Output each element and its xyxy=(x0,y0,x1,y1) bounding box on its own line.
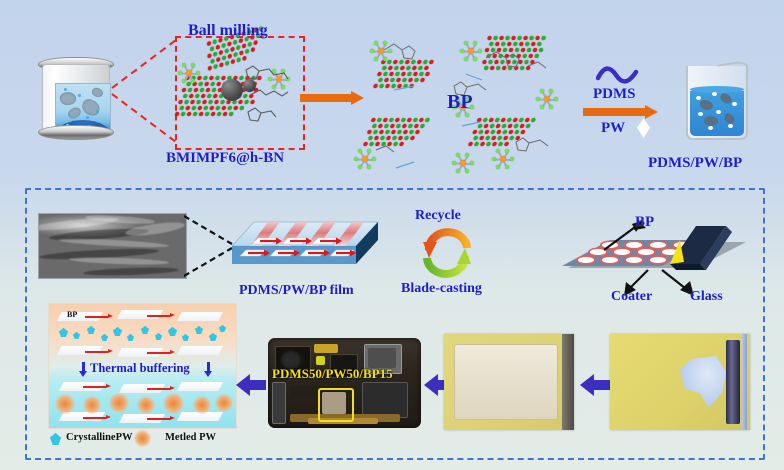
bp-inline-label: BP xyxy=(67,310,77,319)
process-arrow-2-icon xyxy=(583,105,659,119)
beaker xyxy=(686,60,748,140)
beaker-glass xyxy=(686,66,748,140)
glass-label: Glass xyxy=(690,289,723,305)
pf6-anion-icon xyxy=(178,62,200,84)
legend-crystalline-label: CrystallinePW xyxy=(66,432,133,443)
jar-base xyxy=(38,125,114,140)
pw-diamond-icon xyxy=(637,118,650,138)
flow-arrow-left-1-icon xyxy=(236,374,266,396)
recycle-arrows-icon xyxy=(415,224,479,282)
figure-canvas: Ball milling BMIMPF6@h-BN xyxy=(0,0,784,470)
imidazolium-chain-icon xyxy=(238,60,300,140)
process-arrow-1-icon xyxy=(300,91,364,105)
legend-melted-marker-icon xyxy=(134,430,151,447)
sem-image xyxy=(38,213,187,279)
blade-casting-label: Blade-casting xyxy=(401,281,482,297)
recycle-label: Recycle xyxy=(415,208,461,224)
blade-casting-photo xyxy=(610,334,750,430)
bp-product-label: BP xyxy=(447,91,473,114)
red-leader-lines xyxy=(110,38,182,144)
legend-melted-label: Metled PW xyxy=(165,432,216,443)
flow-arrow-left-3-icon xyxy=(580,374,610,396)
thermal-buffering-label: Thermal buffering xyxy=(90,361,190,376)
coater-label: Coater xyxy=(611,289,652,305)
pcb-photo xyxy=(268,338,421,428)
film-slab-diagram xyxy=(232,220,380,282)
pdms-squiggle-icon xyxy=(596,66,640,86)
thermal-buffering-panel: BP Thermal buffering xyxy=(48,303,237,429)
pw-label: PW xyxy=(601,120,625,137)
bp-pointer-label: BP xyxy=(635,214,654,231)
sample-label: PDMS50/PW50/BP15 xyxy=(272,366,393,382)
dispersion-label: PDMS/PW/BP xyxy=(648,155,742,172)
ball-milling-label: Ball milling xyxy=(188,22,268,40)
zoom-leader-icon xyxy=(184,214,236,280)
jar-body xyxy=(42,64,110,134)
pdms-label: PDMS xyxy=(593,86,636,103)
peeled-film-photo xyxy=(444,334,574,430)
bmimpf6-hbn-label: BMIMPF6@h-BN xyxy=(166,150,284,167)
film-label: PDMS/PW/BP film xyxy=(239,283,354,299)
ball-mill-jar xyxy=(36,55,114,140)
